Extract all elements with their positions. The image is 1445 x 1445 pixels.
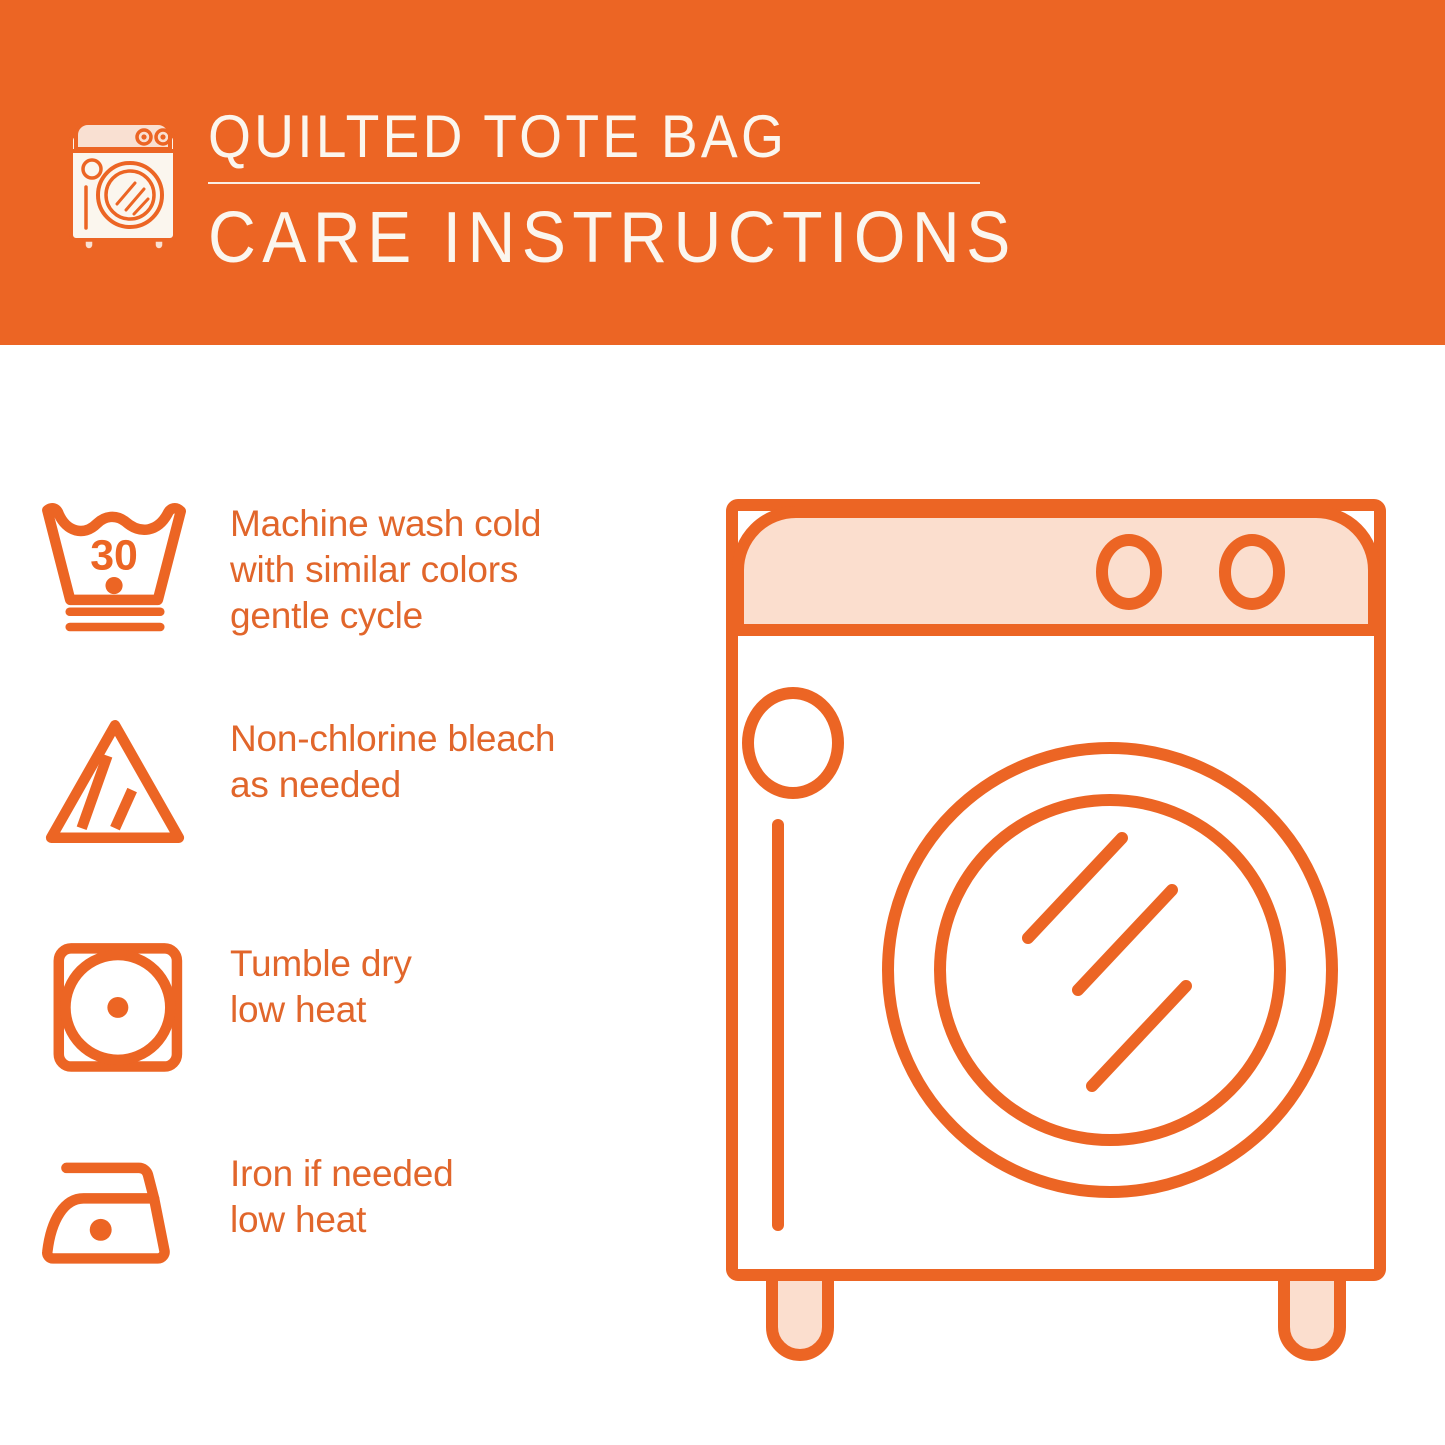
wash-temp-label: 30	[90, 531, 138, 579]
non-chlorine-bleach-triangle-icon	[0, 710, 230, 853]
care-text-tumble-dry: Tumble dry low heat	[230, 935, 700, 1033]
page-title: QUILTED TOTE BAG	[208, 104, 935, 170]
header-text-block: QUILTED TOTE BAG CARE INSTRUCTIONS	[208, 104, 998, 278]
care-text-line: low heat	[230, 987, 700, 1033]
washing-machine-icon	[62, 100, 188, 250]
care-text-line: Machine wash cold	[230, 501, 700, 547]
title-divider	[208, 182, 980, 184]
care-text-line: with similar colors	[230, 547, 700, 593]
care-row-iron: Iron if needed low heat	[0, 1145, 700, 1288]
care-text-line: gentle cycle	[230, 593, 700, 639]
care-text-line: low heat	[230, 1197, 700, 1243]
care-text-wash: Machine wash cold with similar colors ge…	[230, 495, 700, 639]
care-text-line: Tumble dry	[230, 941, 700, 987]
care-text-line: as needed	[230, 762, 700, 808]
care-text-bleach: Non-chlorine bleach as needed	[230, 710, 700, 808]
care-text-line: Iron if needed	[230, 1151, 700, 1197]
leg-left	[772, 1275, 828, 1355]
page-subtitle: CARE INSTRUCTIONS	[208, 198, 935, 278]
leg-right	[1284, 1275, 1340, 1355]
care-instruction-list: 30 Machine wash cold with similar colors…	[0, 345, 700, 1445]
care-row-bleach: Non-chlorine bleach as needed	[0, 710, 700, 853]
iron-low-heat-icon	[0, 1145, 230, 1288]
header-band: QUILTED TOTE BAG CARE INSTRUCTIONS	[0, 0, 1445, 345]
care-row-tumble-dry: Tumble dry low heat	[0, 935, 700, 1078]
machine-wash-tub-30-gentle-icon: 30	[0, 495, 230, 638]
care-row-wash: 30 Machine wash cold with similar colors…	[0, 495, 700, 639]
care-text-iron: Iron if needed low heat	[230, 1145, 700, 1243]
tumble-dry-low-heat-icon	[0, 935, 230, 1078]
care-instructions-page: QUILTED TOTE BAG CARE INSTRUCTIONS 30	[0, 0, 1445, 1445]
large-washing-machine-illustration	[700, 460, 1420, 1380]
care-text-line: Non-chlorine bleach	[230, 716, 700, 762]
